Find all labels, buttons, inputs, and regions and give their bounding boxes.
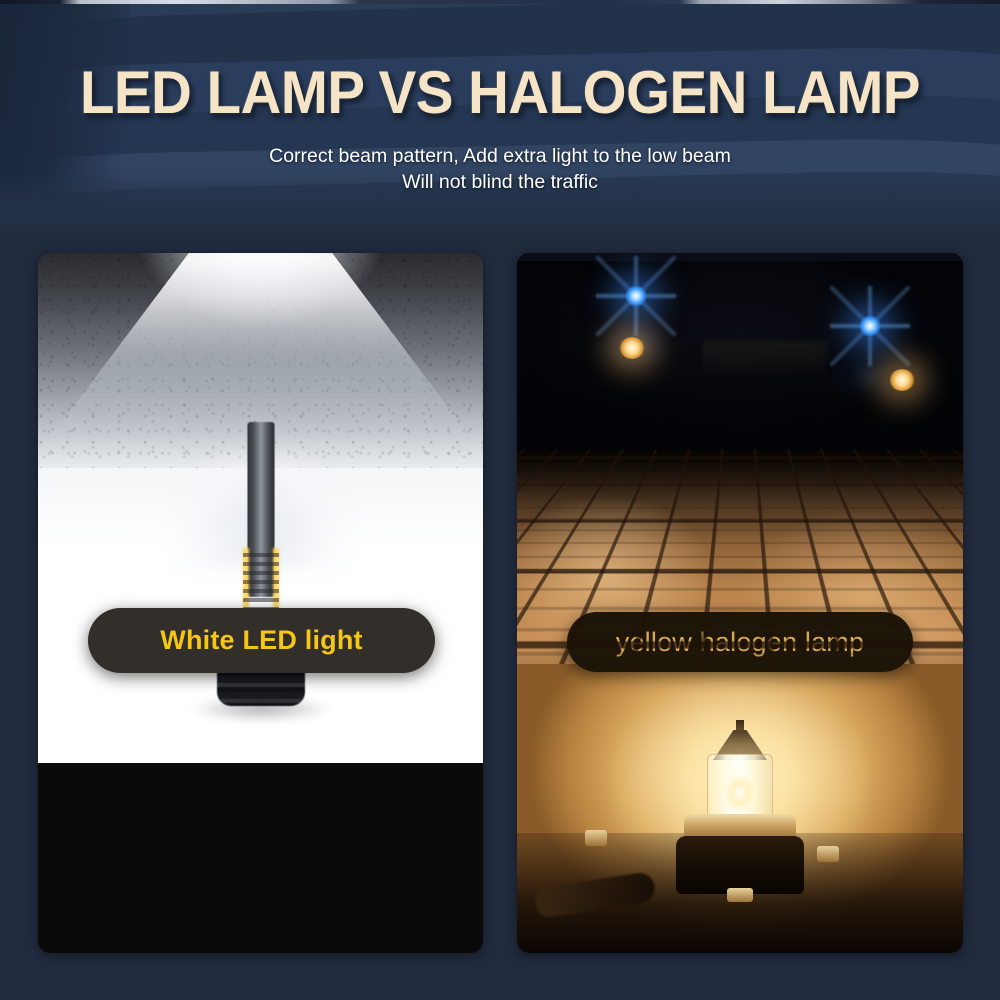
led-label-pill: White LED light <box>88 608 435 673</box>
led-bulb-shadow <box>191 696 331 722</box>
led-label-text: White LED light <box>160 625 362 656</box>
halogen-label-pill: yellow halogen lamp <box>567 612 913 672</box>
title-block: LED LAMP VS HALOGEN LAMP Correct beam pa… <box>0 0 1000 195</box>
halogen-bulb-tab <box>585 830 607 846</box>
page-title: LED LAMP VS HALOGEN LAMP <box>30 58 970 127</box>
subtitle-line-1: Correct beam pattern, Add extra light to… <box>0 143 1000 169</box>
panel-halogen <box>517 253 963 953</box>
halogen-headlight-left <box>619 337 645 359</box>
blue-accent-light-right <box>859 315 881 337</box>
panel-led <box>38 253 483 953</box>
halogen-headlight-right <box>889 369 915 391</box>
halogen-night-scene <box>517 253 963 449</box>
top-edge-artifact-strip <box>0 0 1000 4</box>
halogen-bulb-filament <box>727 776 753 810</box>
subtitle-line-2: Will not blind the traffic <box>0 169 1000 195</box>
halogen-bulb-tab <box>817 846 839 862</box>
halogen-label-text: yellow halogen lamp <box>616 627 864 658</box>
poster-root: LED LAMP VS HALOGEN LAMP Correct beam pa… <box>0 0 1000 1000</box>
license-plate-faint <box>703 341 827 375</box>
halogen-bulb-photo <box>517 664 963 953</box>
halogen-bulb-base <box>676 836 804 894</box>
comparison-panels <box>0 253 1000 955</box>
blue-accent-light-left <box>625 285 647 307</box>
halogen-bulb-tab <box>727 888 753 902</box>
